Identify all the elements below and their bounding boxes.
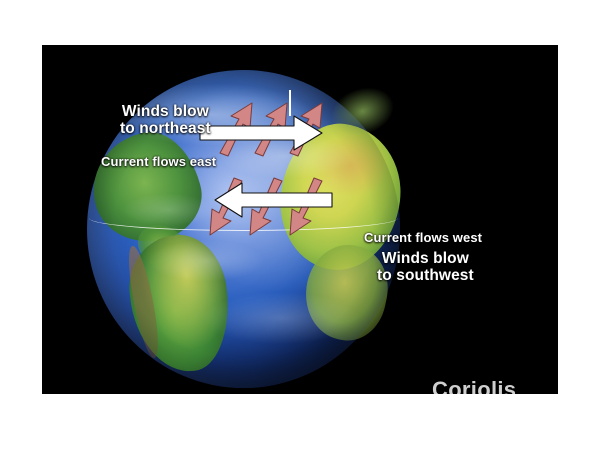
- slide-panel: Winds blow to northeast Current flows ea…: [42, 45, 558, 394]
- label-current-flows-west: Current flows west: [364, 231, 482, 246]
- southern-hemisphere-arrow-group: [188, 173, 334, 253]
- label-winds-northeast: Winds blow to northeast: [120, 103, 211, 138]
- slide-title: Coriolis Effect: [432, 377, 558, 394]
- label-current-flows-east: Current flows east: [101, 155, 216, 170]
- northern-hemisphere-arrow-group: [198, 85, 338, 157]
- label-winds-southwest: Winds blow to southwest: [377, 250, 474, 285]
- slide-canvas: Winds blow to northeast Current flows ea…: [0, 0, 600, 450]
